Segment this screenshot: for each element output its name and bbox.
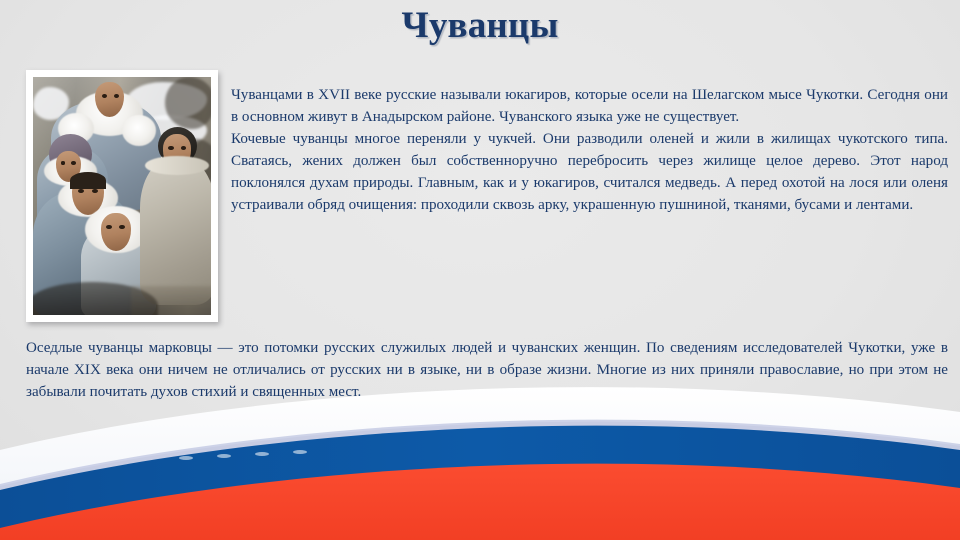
wave-halo [0, 391, 960, 490]
wave-band-red [0, 464, 960, 540]
wave-band-separator [0, 420, 960, 494]
bottom-text-block: Оседлые чуванцы марковцы — это потомки р… [26, 337, 948, 403]
paragraph-nomadic-intro: Чуванцами в XVII веке русские называли ю… [231, 84, 948, 128]
slide-canvas: Чуванцы [0, 0, 960, 540]
wave-band-blue [0, 426, 960, 532]
wave-dots [179, 450, 307, 460]
main-text-column: Чуванцами в XVII веке русские называли ю… [231, 84, 948, 217]
page-title: Чуванцы [0, 4, 960, 48]
photo-figure-right [140, 158, 211, 306]
photo-frame [26, 70, 218, 322]
paragraph-nomadic-customs: Кочевые чуванцы многое переняли у чукчей… [231, 128, 948, 216]
russian-flag-wave-decoration [0, 380, 960, 540]
photo-image [33, 77, 211, 315]
paragraph-settled-chuvans: Оседлые чуванцы марковцы — это потомки р… [26, 337, 948, 403]
